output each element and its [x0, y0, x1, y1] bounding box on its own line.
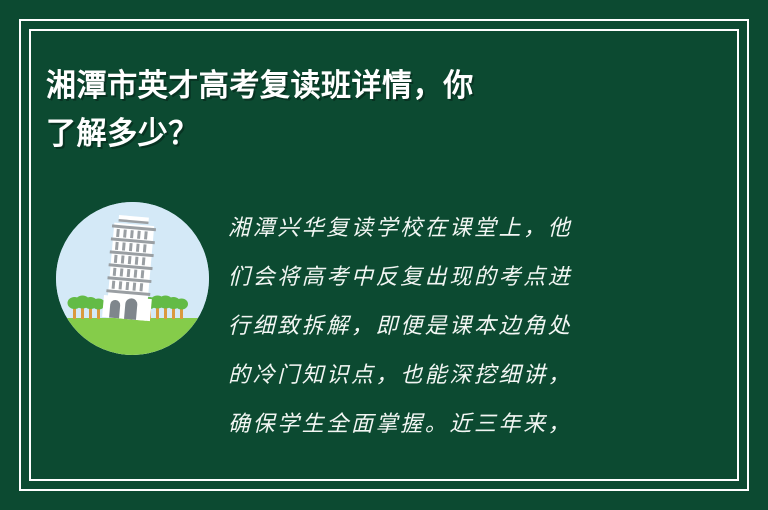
- body-line-4: 的冷门知识点，也能深挖细讲，: [228, 351, 660, 400]
- body-line-1: 湘潭兴华复读学校在课堂上，他: [228, 204, 660, 253]
- body-line-5: 确保学生全面掌握。近三年来，: [228, 400, 660, 449]
- body-line-3: 行细致拆解，即便是课本边角处: [228, 302, 660, 351]
- illustration-circle: [56, 202, 209, 355]
- body-line-2: 们会将高考中反复出现的考点进: [228, 253, 660, 302]
- poster-canvas: 湘潭市英才高考复读班详情，你 了解多少？: [0, 0, 768, 510]
- headline-title: 湘潭市英才高考复读班详情，你 了解多少？: [46, 62, 706, 158]
- headline-line-1: 湘潭市英才高考复读班详情，你: [46, 62, 686, 110]
- body-paragraph: 湘潭兴华复读学校在课堂上，他 们会将高考中反复出现的考点进 行细致拆解，即便是课…: [228, 204, 660, 449]
- leaning-tower-icon: [56, 202, 209, 355]
- illustration-thumbnail: [56, 202, 209, 355]
- headline-line-2: 了解多少？: [46, 110, 686, 158]
